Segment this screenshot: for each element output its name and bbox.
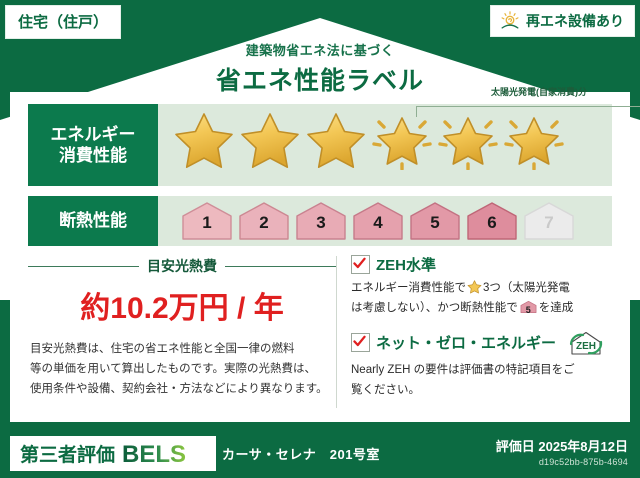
- renewable-badge-label: 再エネ設備あり: [526, 11, 624, 31]
- zeh-logo-text: ZEH: [576, 341, 596, 352]
- zeh-desc-part-3: を達成: [539, 302, 574, 314]
- zeh-standard-title-row: ZEH水準: [351, 254, 612, 275]
- zeh-logo-icon: ZEH: [566, 329, 606, 357]
- inline-star-icon: [467, 279, 482, 294]
- star-icon-solar-5: [436, 108, 500, 170]
- utility-cost-heading: 目安光熱費: [28, 256, 336, 276]
- utility-cost-note: 目安光熱費は、住宅の省エネ性能と全国一律の燃料 等の単価を用いて算出したものです…: [28, 339, 336, 399]
- zeh-desc-part-1: エネルギー消費性能で: [351, 282, 466, 294]
- section-divider: [336, 256, 337, 408]
- net-zero-desc-line-1: Nearly ZEH の要件は評価書の特記項目をご: [351, 360, 612, 380]
- net-zero-desc: Nearly ZEH の要件は評価書の特記項目をご 覧ください。: [351, 360, 612, 401]
- star-rating: [172, 108, 566, 170]
- title-main: 省エネ性能ラベル: [0, 61, 640, 97]
- bels-logo-box: 第三者評価 BELS: [10, 436, 216, 471]
- insulation-house-4: 4: [351, 200, 405, 242]
- zeh-section: ZEH水準 エネルギー消費性能で3つ（太陽光発電 は考慮しない）、かつ断熱性能で…: [347, 254, 612, 410]
- evaluation-date: 評価日 2025年8月12日: [496, 436, 628, 455]
- insulation-scale-panel: 1 2 3 4 5: [158, 196, 612, 246]
- energy-label-line1: エネルギー: [51, 124, 136, 145]
- cost-heading-text: 目安光熱費: [147, 256, 217, 276]
- cost-note-line-1: 目安光熱費は、住宅の省エネ性能と全国一律の燃料: [30, 339, 334, 359]
- net-zero-title: ネット・ゼロ・エネルギー: [376, 332, 556, 353]
- label-footer: 第三者評価 BELS カーサ・セレナ 201号室 評価日 2025年8月12日 …: [0, 428, 640, 478]
- star-icon-3: [304, 108, 368, 170]
- cost-rule-left: [28, 266, 139, 267]
- insulation-house-label-3: 3: [294, 213, 348, 233]
- energy-stars-panel: 太陽光発電(自家消費)分: [158, 104, 612, 186]
- insulation-house-scale: 1 2 3 4 5: [180, 200, 576, 242]
- sun-icon: [499, 10, 521, 32]
- insulation-house-label-5: 5: [408, 213, 462, 233]
- insulation-house-label-2: 2: [237, 213, 291, 233]
- star-icon-2: [238, 108, 302, 170]
- insulation-performance-label: 断熱性能: [28, 196, 158, 246]
- cost-rule-right: [225, 266, 336, 267]
- net-zero-desc-line-2: 覧ください。: [351, 380, 612, 400]
- inline-house-icon: 5: [520, 299, 537, 315]
- energy-label-root: 住宅（住戸） 再エネ設備あり 建築物省エネ法に基づく 省エネ性能ラベル エネルギ…: [0, 0, 640, 478]
- property-name: カーサ・セレナ 201号室: [222, 444, 380, 463]
- label-card: エネルギー 消費性能 太陽光発電(自家消費)分: [10, 92, 630, 422]
- bels-logo-text: BELS: [122, 441, 186, 467]
- third-party-eval-label: 第三者評価: [20, 440, 115, 467]
- utility-cost-value: 約10.2万円 / 年: [28, 283, 336, 327]
- cost-note-line-3: 使用条件や設備、契約会社・方法などにより異なります。: [30, 379, 334, 399]
- insulation-house-7: 7: [522, 200, 576, 242]
- zeh-standard-title: ZEH水準: [376, 254, 436, 275]
- insulation-house-3: 3: [294, 200, 348, 242]
- net-zero-title-row: ネット・ゼロ・エネルギー ZEH: [351, 329, 612, 357]
- renewable-equipment-badge: 再エネ設備あり: [490, 5, 635, 37]
- cost-note-line-2: 等の単価を用いて算出したものです。実際の光熱費は、: [30, 359, 334, 379]
- bels-logo: BELS: [122, 441, 206, 467]
- evaluation-id: d19c52bb-875b-4694: [496, 457, 628, 467]
- zeh-desc-part-2: は考慮しない）、かつ断熱性能で: [351, 302, 518, 314]
- evaluation-info: 評価日 2025年8月12日 d19c52bb-875b-4694: [496, 436, 628, 467]
- check-icon: [353, 335, 366, 348]
- net-zero-energy-item: ネット・ゼロ・エネルギー ZEH Nearly ZEH の要件は評価書の特記項目…: [351, 329, 612, 401]
- insulation-house-label-7: 7: [522, 213, 576, 233]
- utility-cost-section: 目安光熱費 約10.2万円 / 年 目安光熱費は、住宅の省エネ性能と全国一律の燃…: [28, 254, 336, 410]
- zeh-standard-checkbox: [351, 255, 370, 274]
- check-icon: [353, 257, 366, 270]
- insulation-house-1: 1: [180, 200, 234, 242]
- energy-performance-row: エネルギー 消費性能 太陽光発電(自家消費)分: [28, 104, 612, 186]
- zeh-standard-item: ZEH水準 エネルギー消費性能で3つ（太陽光発電 は考慮しない）、かつ断熱性能で…: [351, 254, 612, 319]
- star-icon-1: [172, 108, 236, 170]
- insulation-performance-row: 断熱性能 1 2 3: [28, 196, 612, 246]
- insulation-house-label-1: 1: [180, 213, 234, 233]
- star-icon-solar-6: [502, 108, 566, 170]
- insulation-house-label-6: 6: [465, 213, 519, 233]
- star-icon-solar-4: [370, 108, 434, 170]
- energy-performance-label: エネルギー 消費性能: [28, 104, 158, 186]
- zeh-standard-desc: エネルギー消費性能で3つ（太陽光発電 は考慮しない）、かつ断熱性能で5を達成: [351, 278, 612, 319]
- solar-bracket: [416, 106, 640, 117]
- building-type-badge: 住宅（住戸）: [5, 5, 121, 39]
- insulation-house-label-4: 4: [351, 213, 405, 233]
- label-title: 建築物省エネ法に基づく 省エネ性能ラベル: [0, 40, 640, 97]
- title-subtitle: 建築物省エネ法に基づく: [0, 40, 640, 59]
- net-zero-checkbox: [351, 333, 370, 352]
- insulation-house-6: 6: [465, 200, 519, 242]
- insulation-house-5: 5: [408, 200, 462, 242]
- energy-label-line2: 消費性能: [51, 145, 136, 166]
- inline-house-level: 5: [520, 302, 537, 318]
- insulation-house-2: 2: [237, 200, 291, 242]
- details-section: 目安光熱費 約10.2万円 / 年 目安光熱費は、住宅の省エネ性能と全国一律の燃…: [28, 254, 612, 410]
- zeh-desc-star-count: 3つ（太陽光発電: [483, 282, 570, 294]
